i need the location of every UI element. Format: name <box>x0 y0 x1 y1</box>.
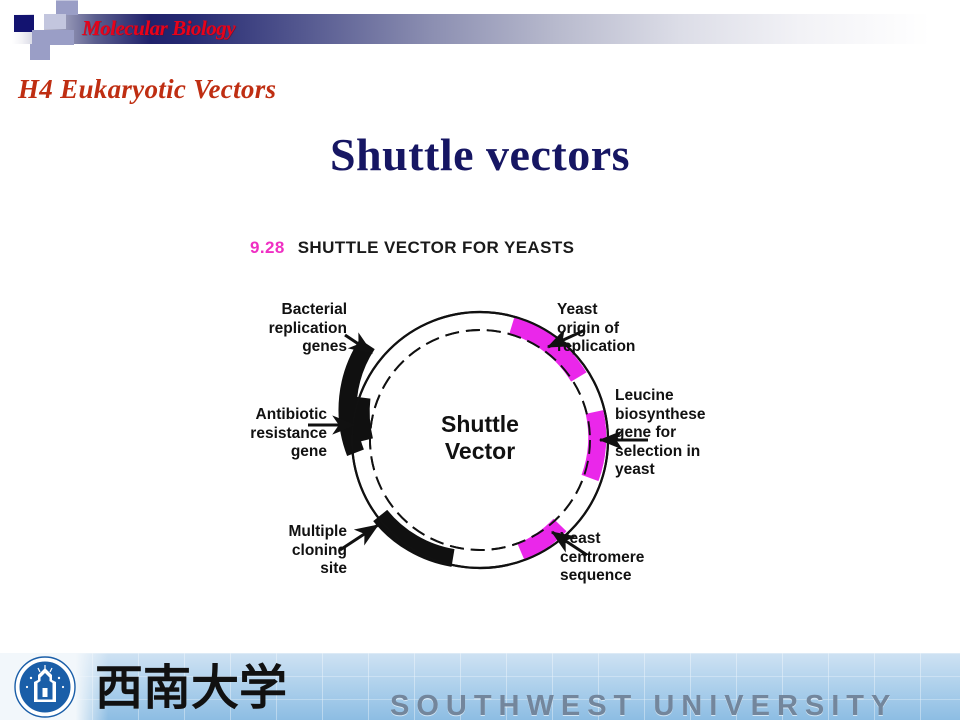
plasmid-center-line2: Vector <box>400 438 560 465</box>
label-antibiotic-resistance-gene: Antibiotic resistance gene <box>152 406 327 462</box>
banner-title: Molecular Biology <box>82 16 235 41</box>
header-banner: Molecular Biology <box>0 0 960 58</box>
segment-leucine-biosynthese-gene <box>590 412 597 478</box>
banner-square-decor <box>0 0 18 14</box>
plasmid-center-line1: Shuttle <box>400 411 560 438</box>
university-name-cn-text: 西南大学 <box>95 660 287 716</box>
label-yeast-origin-of-replication: Yeast origin of replication <box>557 301 732 357</box>
banner-square-decor <box>52 30 74 45</box>
page-title: Shuttle vectors <box>0 128 960 181</box>
banner-square-decor <box>14 15 34 32</box>
label-multiple-cloning-site: Multiple cloning site <box>192 523 347 579</box>
banner-square-decor <box>44 14 66 29</box>
segment-antibiotic-resistance-gene <box>361 398 365 441</box>
plasmid-diagram: Shuttle Vector <box>0 225 960 625</box>
banner-square-decor <box>32 30 52 45</box>
label-leucine-biosynthese-gene: Leucine biosynthese gene for selection i… <box>615 387 800 480</box>
banner-square-decor <box>34 14 44 31</box>
plasmid-figure: 9.28SHUTTLE VECTOR FOR YEASTS <box>0 225 960 625</box>
label-yeast-centromere-sequence: Yeast centromere sequence <box>560 530 745 586</box>
banner-square-decor <box>30 44 50 60</box>
slide-subtitle: H4 Eukaryotic Vectors <box>18 74 276 105</box>
university-seal-logo <box>14 656 76 718</box>
segment-yeast-centromere-sequence <box>521 525 560 552</box>
university-name-english: SOUTHWEST UNIVERSITY <box>390 690 897 723</box>
university-name-chinese-calligraphy: 西南大学 <box>95 658 395 716</box>
label-bacterial-replication-genes: Bacterial replication genes <box>172 301 347 357</box>
banner-square-decor <box>56 1 78 15</box>
plasmid-center-label: Shuttle Vector <box>400 411 560 465</box>
